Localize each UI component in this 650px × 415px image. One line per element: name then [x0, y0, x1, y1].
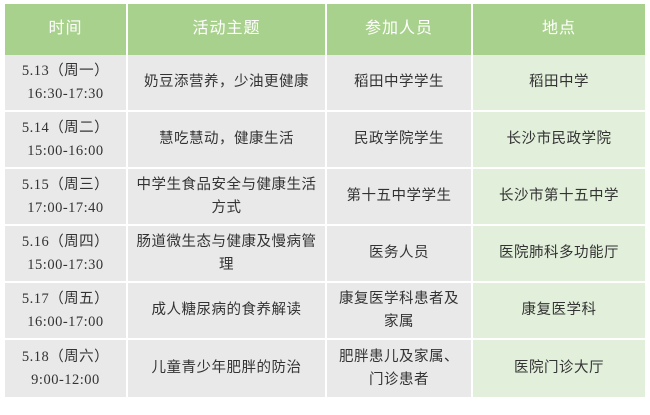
- cell-audience: 康复医学科患者及家属: [327, 283, 473, 340]
- cell-venue: 医院门诊大厅: [473, 340, 645, 397]
- cell-time: 5.14（周二） 15:00-16:00: [5, 112, 128, 169]
- cell-time: 5.17（周五） 16:00-17:00: [5, 283, 128, 340]
- cell-time: 5.13（周一） 16:30-17:30: [5, 55, 128, 112]
- cell-topic: 奶豆添营养，少油更健康: [128, 55, 327, 112]
- table-row: 5.15（周三） 17:00-17:40 中学生食品安全与健康生活方式 第十五中…: [5, 169, 645, 226]
- cell-topic: 儿童青少年肥胖的防治: [128, 340, 327, 397]
- cell-time: 5.16（周四） 15:00-17:30: [5, 226, 128, 283]
- activity-schedule-table: 时间 活动主题 参加人员 地点 5.13（周一） 16:30-17:30 奶豆添…: [5, 4, 645, 397]
- table-row: 5.14（周二） 15:00-16:00 慧吃慧动，健康生活 民政学院学生 长沙…: [5, 112, 645, 169]
- table-row: 5.18（周六） 9:00-12:00 儿童青少年肥胖的防治 肥胖患儿及家属、门…: [5, 340, 645, 397]
- column-header-topic: 活动主题: [128, 4, 327, 55]
- table-body: 5.13（周一） 16:30-17:30 奶豆添营养，少油更健康 稻田中学学生 …: [5, 55, 645, 397]
- cell-audience: 民政学院学生: [327, 112, 473, 169]
- cell-audience: 第十五中学学生: [327, 169, 473, 226]
- cell-time: 5.18（周六） 9:00-12:00: [5, 340, 128, 397]
- cell-venue: 康复医学科: [473, 283, 645, 340]
- cell-audience: 医务人员: [327, 226, 473, 283]
- schedule-table-container: 时间 活动主题 参加人员 地点 5.13（周一） 16:30-17:30 奶豆添…: [5, 4, 645, 397]
- table-header: 时间 活动主题 参加人员 地点: [5, 4, 645, 55]
- column-header-time: 时间: [5, 4, 128, 55]
- table-row: 5.16（周四） 15:00-17:30 肠道微生态与健康及慢病管理 医务人员 …: [5, 226, 645, 283]
- cell-topic: 慧吃慧动，健康生活: [128, 112, 327, 169]
- cell-time: 5.15（周三） 17:00-17:40: [5, 169, 128, 226]
- cell-venue: 长沙市第十五中学: [473, 169, 645, 226]
- cell-audience: 肥胖患儿及家属、门诊患者: [327, 340, 473, 397]
- cell-topic: 肠道微生态与健康及慢病管理: [128, 226, 327, 283]
- table-row: 5.13（周一） 16:30-17:30 奶豆添营养，少油更健康 稻田中学学生 …: [5, 55, 645, 112]
- cell-topic: 中学生食品安全与健康生活方式: [128, 169, 327, 226]
- table-row: 5.17（周五） 16:00-17:00 成人糖尿病的食养解读 康复医学科患者及…: [5, 283, 645, 340]
- column-header-audience: 参加人员: [327, 4, 473, 55]
- cell-venue: 医院肺科多功能厅: [473, 226, 645, 283]
- column-header-venue: 地点: [473, 4, 645, 55]
- cell-venue: 长沙市民政学院: [473, 112, 645, 169]
- cell-topic: 成人糖尿病的食养解读: [128, 283, 327, 340]
- cell-audience: 稻田中学学生: [327, 55, 473, 112]
- cell-venue: 稻田中学: [473, 55, 645, 112]
- table-header-row: 时间 活动主题 参加人员 地点: [5, 4, 645, 55]
